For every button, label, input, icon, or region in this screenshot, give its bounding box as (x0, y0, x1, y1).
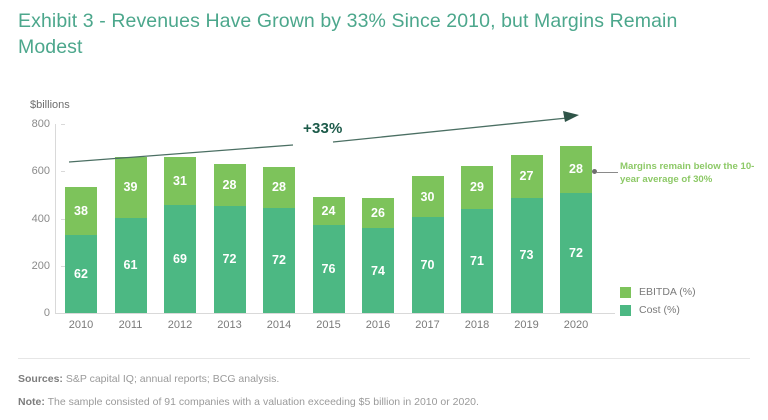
bar-group[interactable]: 2872 (214, 164, 246, 313)
bar-segment-cost[interactable]: 72 (214, 206, 246, 313)
bar-value-ebitda: 28 (272, 180, 286, 194)
bar-value-cost: 71 (470, 254, 484, 268)
bar-group[interactable]: 3169 (164, 157, 196, 313)
bar-segment-cost[interactable]: 62 (65, 235, 97, 313)
bar-value-cost: 70 (421, 258, 435, 272)
bar-value-cost: 72 (223, 252, 237, 266)
legend-item[interactable]: EBITDA (%) (620, 283, 696, 301)
bar-value-cost: 73 (520, 248, 534, 262)
plot-area: 3862396131692872287224762674307029712773… (55, 124, 615, 313)
bar-segment-cost[interactable]: 76 (313, 225, 345, 313)
bar-segment-cost[interactable]: 70 (412, 217, 444, 313)
bar-value-ebitda: 28 (569, 162, 583, 176)
bar-segment-ebitda[interactable]: 29 (461, 166, 493, 209)
bar-value-ebitda: 30 (421, 190, 435, 204)
bar-segment-cost[interactable]: 73 (511, 198, 543, 313)
bar-segment-ebitda[interactable]: 28 (560, 146, 592, 193)
bar-segment-ebitda[interactable]: 27 (511, 155, 543, 198)
y-axis-tick-label: 200 (14, 260, 50, 272)
legend-swatch-icon (620, 305, 631, 316)
note-label: Note: (18, 396, 45, 408)
bar-value-ebitda: 26 (371, 206, 385, 220)
bar-value-ebitda: 31 (173, 174, 187, 188)
y-axis-tick-mark (61, 313, 65, 314)
bar-group[interactable]: 2872 (263, 167, 295, 313)
bar-value-cost: 62 (74, 267, 88, 281)
y-axis-tick-label: 800 (14, 118, 50, 130)
bar-segment-ebitda[interactable]: 38 (65, 187, 97, 235)
bar-segment-cost[interactable]: 74 (362, 228, 394, 313)
bar-value-ebitda: 28 (223, 178, 237, 192)
bar-segment-ebitda[interactable]: 28 (263, 167, 295, 208)
bar-segment-cost[interactable]: 71 (461, 209, 493, 313)
bar-group[interactable]: 3961 (115, 157, 147, 313)
bar-segment-ebitda[interactable]: 28 (214, 164, 246, 206)
bar-group[interactable]: 3070 (412, 176, 444, 313)
bar-value-ebitda: 24 (322, 204, 336, 218)
bar-value-cost: 76 (322, 262, 336, 276)
bar-value-cost: 74 (371, 264, 385, 278)
chart-container: $billions 0200400600800 3862396131692872… (0, 0, 768, 360)
bar-group[interactable]: 2971 (461, 166, 493, 313)
legend-item[interactable]: Cost (%) (620, 301, 696, 319)
legend-label: EBITDA (%) (639, 286, 696, 298)
bar-value-ebitda: 29 (470, 180, 484, 194)
bar-value-cost: 69 (173, 252, 187, 266)
bar-group[interactable]: 3862 (65, 187, 97, 313)
bar-segment-ebitda[interactable]: 24 (313, 197, 345, 225)
bar-value-cost: 61 (124, 258, 138, 272)
sources-footnote: Sources: S&P capital IQ; annual reports;… (18, 373, 279, 385)
y-axis-tick-label: 0 (14, 307, 50, 319)
bar-group[interactable]: 2872 (560, 146, 592, 313)
bar-segment-cost[interactable]: 69 (164, 205, 196, 313)
bar-value-ebitda: 27 (520, 169, 534, 183)
callout-leader-line (596, 172, 618, 173)
y-axis-tick-label: 400 (14, 213, 50, 225)
sources-label: Sources: (18, 373, 63, 385)
bar-value-ebitda: 38 (74, 204, 88, 218)
sources-text: S&P capital IQ; annual reports; BCG anal… (66, 373, 279, 385)
note-text: The sample consisted of 91 companies wit… (48, 396, 479, 408)
y-axis-tick-label: 600 (14, 165, 50, 177)
footer-divider (18, 358, 750, 359)
bar-segment-ebitda[interactable]: 30 (412, 176, 444, 217)
legend-swatch-icon (620, 287, 631, 298)
x-axis-tick-label: 2020 (546, 319, 606, 331)
legend-label: Cost (%) (639, 304, 680, 316)
bar-group[interactable]: 2773 (511, 155, 543, 313)
bar-segment-ebitda[interactable]: 26 (362, 198, 394, 228)
growth-annotation: +33% (303, 120, 343, 137)
y-axis-ticks: 0200400600800 (10, 0, 50, 360)
bar-group[interactable]: 2476 (313, 197, 345, 313)
note-footnote: Note: The sample consisted of 91 compani… (18, 396, 479, 408)
bar-segment-cost[interactable]: 72 (263, 208, 295, 313)
bar-segment-ebitda[interactable]: 31 (164, 157, 196, 205)
chart-legend: EBITDA (%)Cost (%) (620, 283, 696, 319)
bar-segment-ebitda[interactable]: 39 (115, 157, 147, 218)
bar-value-cost: 72 (569, 246, 583, 260)
bar-value-ebitda: 39 (124, 180, 138, 194)
bar-segment-cost[interactable]: 61 (115, 218, 147, 313)
x-axis-line (55, 313, 615, 314)
bar-segment-cost[interactable]: 72 (560, 193, 592, 313)
bar-value-cost: 72 (272, 253, 286, 267)
bar-group[interactable]: 2674 (362, 198, 394, 313)
margins-callout: Margins remain below the 10-year average… (620, 160, 760, 186)
